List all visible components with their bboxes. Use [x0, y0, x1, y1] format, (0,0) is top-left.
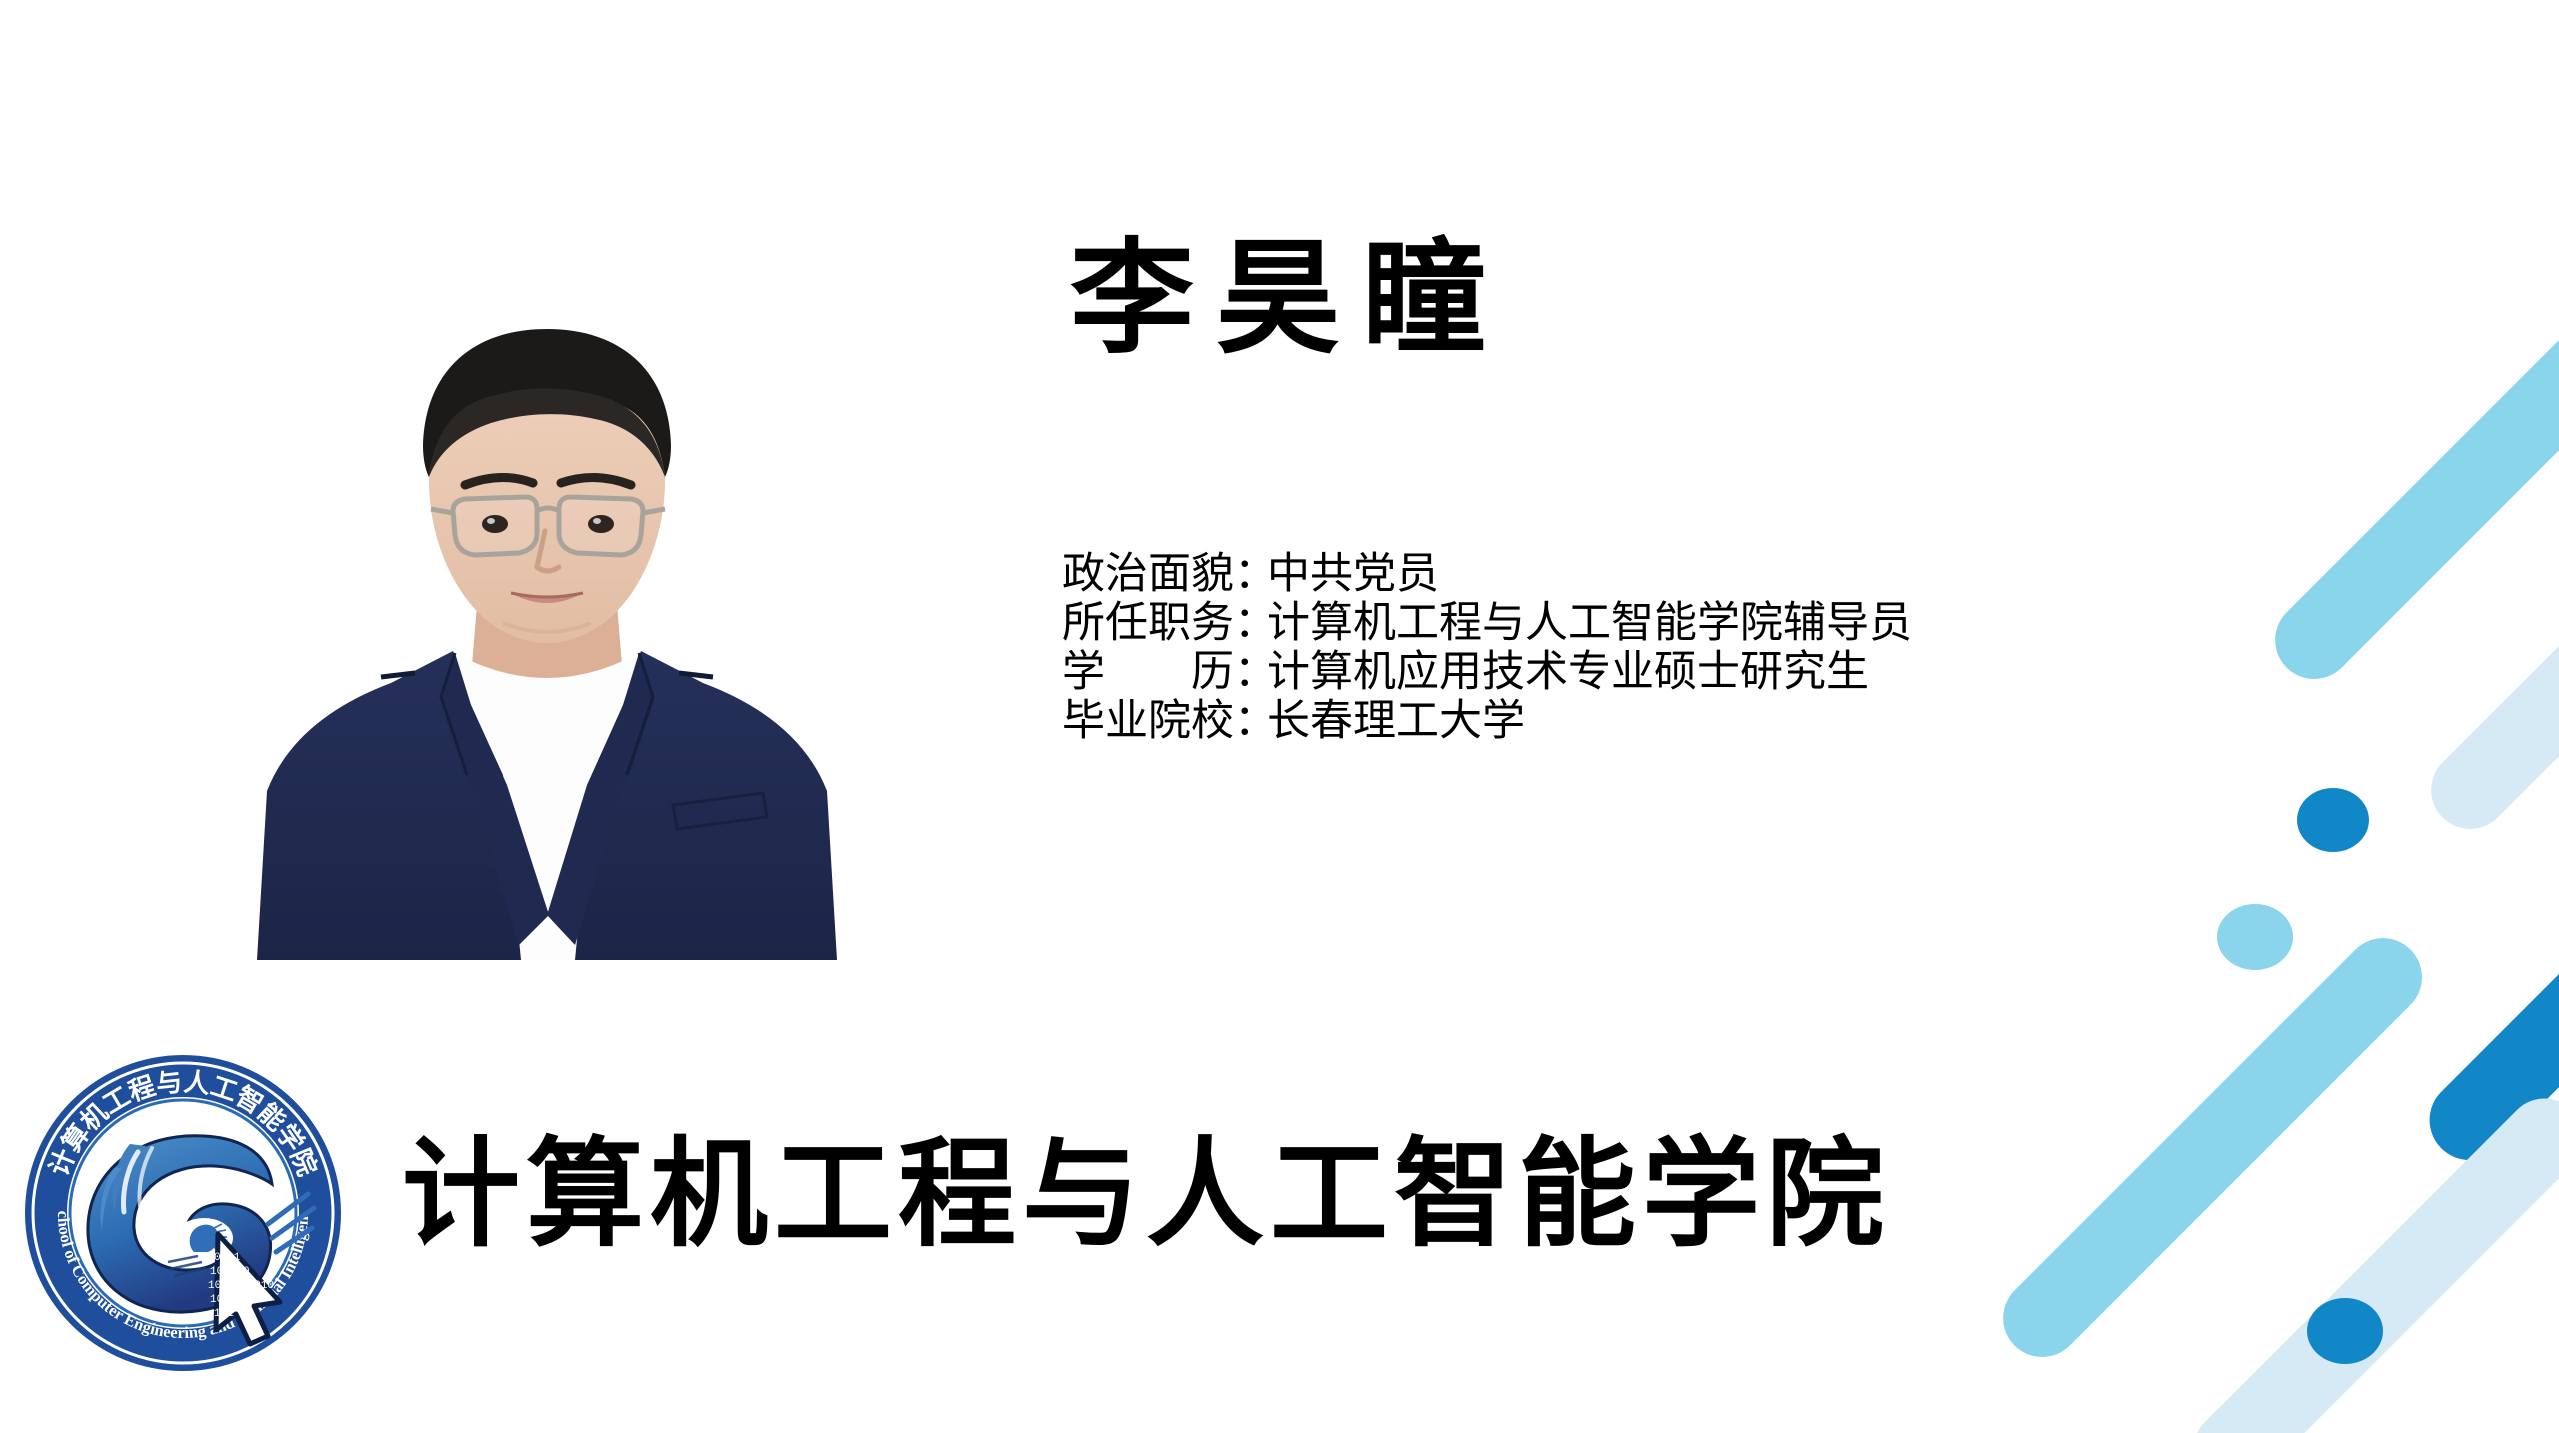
decorative-dot-dark-2	[2307, 1298, 2383, 1364]
diagonal-bar-light-2	[2415, 154, 2559, 846]
detail-row-alma-mater: 毕业院校：长春理工大学	[1062, 697, 1912, 746]
detail-value: 计算机应用技术专业硕士研究生	[1267, 648, 1869, 697]
diagonal-bar-light-3	[2177, 1082, 2559, 1433]
portrait-illustration	[203, 305, 891, 960]
svg-text:101010: 101010	[210, 1266, 250, 1278]
slide-canvas: 李昊瞳 政治面貌：中共党员 所任职务：计算机工程与人工智能学院辅导员 学 历：计…	[0, 0, 2559, 1433]
svg-text:10101010: 10101010	[210, 1294, 263, 1306]
school-emblem: 计算机工程与人工智能学院 School of Computer Engineer…	[18, 1048, 348, 1378]
portrait-photo	[203, 305, 891, 960]
detail-row-position: 所任职务：计算机工程与人工智能学院辅导员	[1062, 599, 1912, 648]
school-title: 计算机工程与人工智能学院	[402, 1128, 1890, 1264]
diagonal-bar-dark-2	[2413, 583, 2559, 1177]
detail-label: 毕业院校：	[1062, 697, 1267, 746]
detail-row-education: 学 历：计算机应用技术专业硕士研究生	[1062, 648, 1912, 697]
svg-text:101 10: 101 10	[214, 1308, 254, 1320]
detail-value: 长春理工大学	[1267, 697, 1525, 746]
svg-text:0101: 0101	[214, 1252, 241, 1264]
svg-text:1010101010: 1010101010	[208, 1280, 274, 1292]
detail-value: 中共党员	[1267, 550, 1439, 599]
detail-label: 学 历：	[1062, 648, 1267, 697]
person-details: 政治面貌：中共党员 所任职务：计算机工程与人工智能学院辅导员 学 历：计算机应用…	[1062, 550, 1912, 746]
detail-row-political-status: 政治面貌：中共党员	[1062, 550, 1912, 599]
diagonal-bar-medium-2	[1987, 922, 2438, 1373]
detail-label: 所任职务：	[1062, 599, 1267, 648]
emblem-graphic: 计算机工程与人工智能学院 School of Computer Engineer…	[18, 1048, 348, 1378]
decorative-dot-medium-1	[2217, 904, 2293, 970]
detail-value: 计算机工程与人工智能学院辅导员	[1267, 599, 1912, 648]
decorative-dot-dark-1	[2297, 788, 2369, 852]
person-name: 李昊瞳	[1070, 238, 1508, 362]
detail-label: 政治面貌：	[1062, 550, 1267, 599]
diagonal-bar-medium-1	[2259, 0, 2559, 695]
